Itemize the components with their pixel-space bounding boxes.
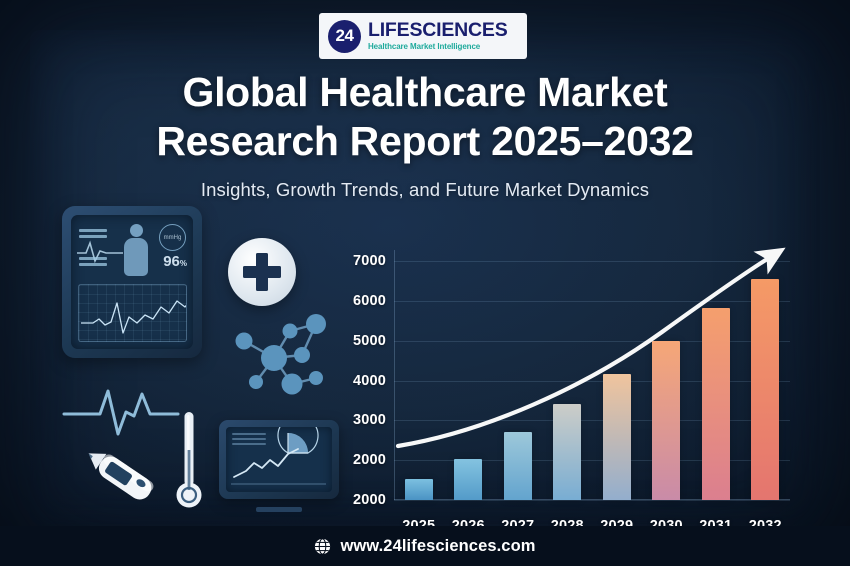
y-tick-label: 5000 [353, 333, 386, 349]
medical-cross-icon [228, 238, 296, 306]
patient-monitor: mmHg 96% [62, 206, 202, 358]
chart-bar [652, 341, 680, 500]
footer-bar: www.24lifesciences.com [0, 526, 850, 566]
y-tick-label: 6000 [353, 293, 386, 309]
patient-figure-icon [123, 224, 149, 276]
digital-thermometer-icon [78, 438, 164, 516]
chart-bar [751, 279, 779, 500]
monitor-spo2-value: 96% [163, 253, 187, 270]
page-subtitle: Insights, Growth Trends, and Future Mark… [0, 179, 850, 201]
brand-tagline: Healthcare Market Intelligence [368, 43, 508, 51]
poster-canvas: 24 LIFESCIENCES Healthcare Market Intell… [0, 0, 850, 566]
y-tick-label: 2000 [353, 452, 386, 468]
gridline [394, 500, 790, 501]
y-tick-label: 2000 [353, 492, 386, 508]
monitor-info-bars-bottom [79, 257, 107, 269]
monitor-waveform-icon [79, 285, 187, 339]
chart-bar [553, 404, 581, 500]
analytics-monitor-stand [256, 507, 302, 512]
market-growth-chart: 7000600050004000300020002000 20252026202… [342, 236, 812, 524]
brand-logo[interactable]: 24 LIFESCIENCES Healthcare Market Intell… [319, 13, 527, 59]
analytics-charts-icon [226, 427, 332, 492]
analytics-monitor-icon [219, 420, 339, 515]
y-tick-label: 7000 [353, 253, 386, 269]
analytics-monitor-frame [219, 420, 339, 499]
brand-number-badge: 24 [328, 20, 361, 53]
ecg-heartbeat-icon [62, 382, 180, 438]
y-tick-label: 3000 [353, 412, 386, 428]
patient-monitor-screen: mmHg 96% [71, 215, 193, 349]
page-title-line1: Global Healthcare Market [0, 68, 850, 117]
globe-icon [314, 538, 331, 555]
chart-bar [454, 459, 482, 500]
mercury-thermometer-icon [176, 410, 202, 514]
monitor-gauge-icon: mmHg [159, 224, 186, 251]
chart-bar [405, 479, 433, 500]
page-title: Global Healthcare Market Research Report… [0, 68, 850, 166]
monitor-waveform-panel [78, 284, 187, 342]
molecule-network-icon [228, 310, 333, 398]
page-title-line2: Research Report 2025–2032 [0, 117, 850, 166]
chart-bar [504, 432, 532, 500]
analytics-monitor-screen [226, 427, 332, 492]
y-tick-label: 4000 [353, 373, 386, 389]
chart-bar [603, 374, 631, 500]
chart-plot-area: 7000600050004000300020002000 20252026202… [394, 250, 790, 500]
footer-url[interactable]: www.24lifesciences.com [340, 537, 535, 556]
chart-bar [702, 308, 730, 500]
brand-name: LIFESCIENCES [368, 21, 508, 41]
chart-bars [394, 250, 790, 500]
